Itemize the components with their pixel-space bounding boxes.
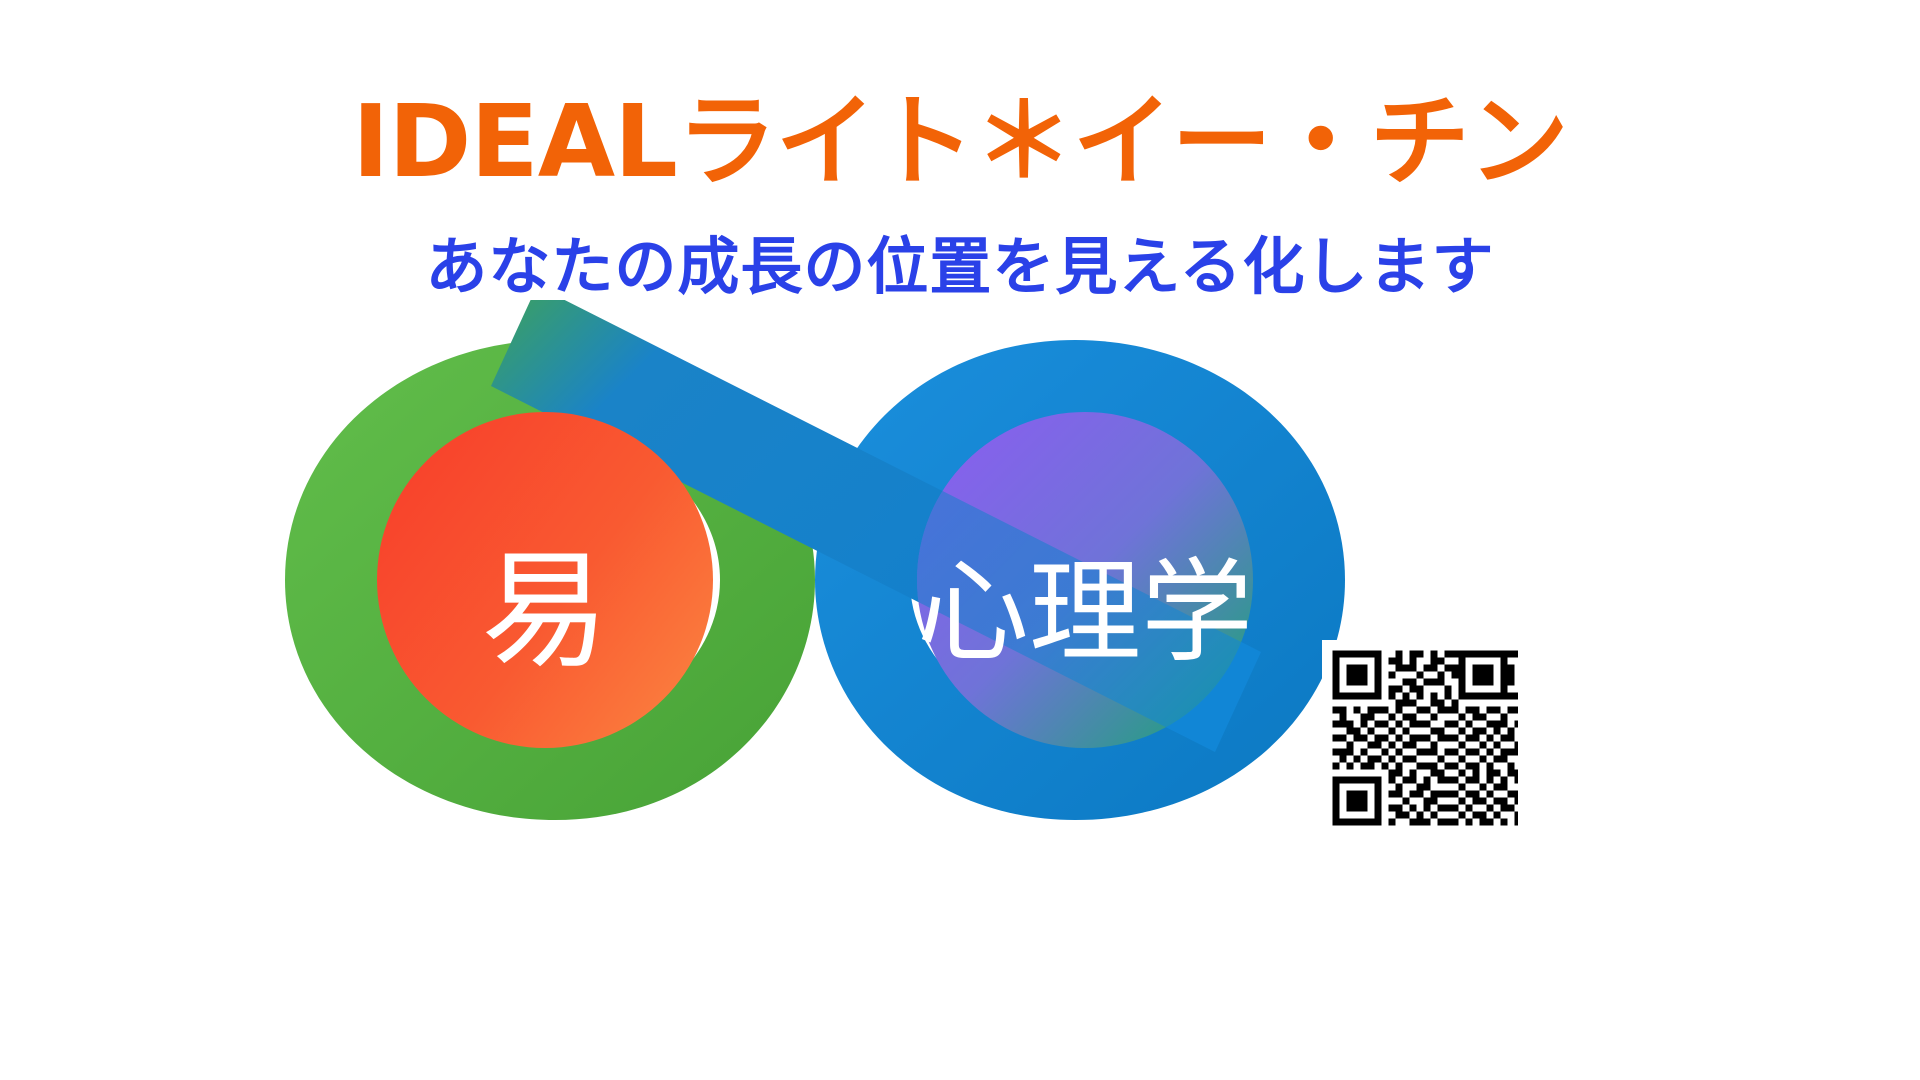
logo-label-right: 心理学 <box>917 548 1253 678</box>
banner-canvas: IDEALライト＊イー・チン あなたの成長の位置を見える化します <box>0 0 1920 1080</box>
infinity-logo: 易 心理学 <box>255 300 1375 860</box>
title-block: IDEALライト＊イー・チン <box>0 92 1920 192</box>
qr-code-image[interactable] <box>1322 640 1518 836</box>
logo-label-left: 易 <box>481 537 609 686</box>
page-subtitle: あなたの成長の位置を見える化します <box>425 236 1494 298</box>
qr-code[interactable] <box>1322 640 1518 836</box>
page-title: IDEALライト＊イー・チン <box>352 92 1568 192</box>
subtitle-block: あなたの成長の位置を見える化します <box>0 236 1920 298</box>
